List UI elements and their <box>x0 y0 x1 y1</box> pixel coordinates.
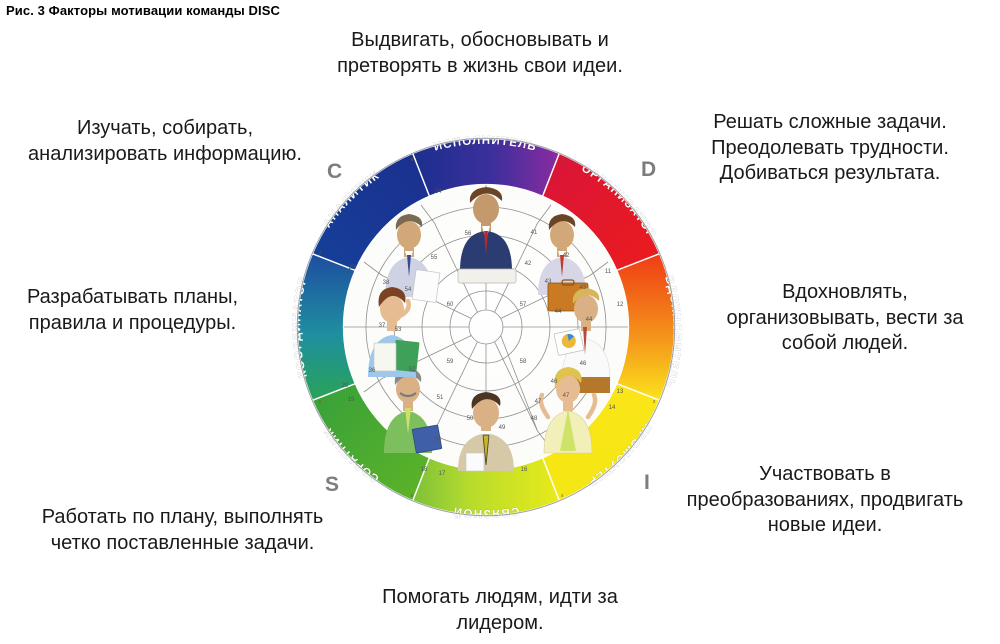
ring-number: 48 <box>531 416 538 422</box>
ring-number: 17 <box>439 471 446 477</box>
ring-number: 44 <box>586 317 593 323</box>
ring-number: 47 <box>535 399 542 405</box>
ring-number: 46 <box>580 361 587 367</box>
ring-number: 50 <box>467 416 474 422</box>
ring-number: 43 <box>580 285 587 291</box>
ring-number: 46 <box>551 379 558 385</box>
ring-number: 59 <box>447 359 454 365</box>
ring-number: 20 <box>342 383 349 389</box>
ring-number: 55 <box>431 255 438 261</box>
ring-number: 12 <box>617 302 624 308</box>
ring-number: 43 <box>545 279 552 285</box>
ring-number: 13 <box>617 389 624 395</box>
disc-wheel: ИСПОЛНИТЕЛЬ ОРГАНИЗАТОР ВДОХНОВИТЕЛЬ ПРО… <box>290 131 682 523</box>
figure-canvas: Рис. 3 Факторы мотивации команды DISC Вы… <box>0 0 1000 644</box>
ring-number: 34 <box>435 437 442 443</box>
ring-number: 58 <box>520 359 527 365</box>
ring-number: 14 <box>609 405 616 411</box>
ring-number: 36 <box>369 368 376 374</box>
ring-number: 57 <box>520 302 527 308</box>
note-top: Выдвигать, обосновывать и претворять в ж… <box>255 28 705 79</box>
ring-number: 18 <box>421 467 428 473</box>
ring-number: 37 <box>379 323 386 329</box>
note-top-left: Изучать, собирать, анализировать информа… <box>0 116 330 167</box>
note-left: Разрабатывать планы, правила и процедуры… <box>0 285 265 336</box>
note-top-right: Решать сложные задачи. Преодолевать труд… <box>660 110 1000 187</box>
note-bottom: Помогать людям, идти за лидером. <box>320 585 680 636</box>
ring-number: 51 <box>437 395 444 401</box>
note-bottom-right: Участвовать в преобразованиях, продвигат… <box>650 462 1000 539</box>
ring-number: 38 <box>383 280 390 286</box>
ring-number: 42 <box>525 261 532 267</box>
figure-caption: Рис. 3 Факторы мотивации команды DISC <box>6 3 280 18</box>
ring-number: 16 <box>521 467 528 473</box>
ring-number: 19 <box>348 397 355 403</box>
ring-number: 56 <box>465 231 472 237</box>
ring-number: 22 <box>349 265 356 271</box>
ring-number: 11 <box>605 269 612 275</box>
ring-number: 53 <box>395 327 402 333</box>
ring-number: 52 <box>409 367 416 373</box>
note-right: Вдохновлять, организовывать, вести за со… <box>690 280 1000 357</box>
ring-number: 47 <box>563 393 570 399</box>
disc-wheel-svg: ИСПОЛНИТЕЛЬ ОРГАНИЗАТОР ВДОХНОВИТЕЛЬ ПРО… <box>290 131 682 523</box>
ring-number: 44 <box>555 309 562 315</box>
ring-number: 24 <box>435 189 442 195</box>
ring-number: 54 <box>405 287 412 293</box>
ring-number: 49 <box>499 425 506 431</box>
ring-number: 42 <box>563 253 570 259</box>
ring-number: 41 <box>531 230 538 236</box>
ring-number: 60 <box>447 302 454 308</box>
